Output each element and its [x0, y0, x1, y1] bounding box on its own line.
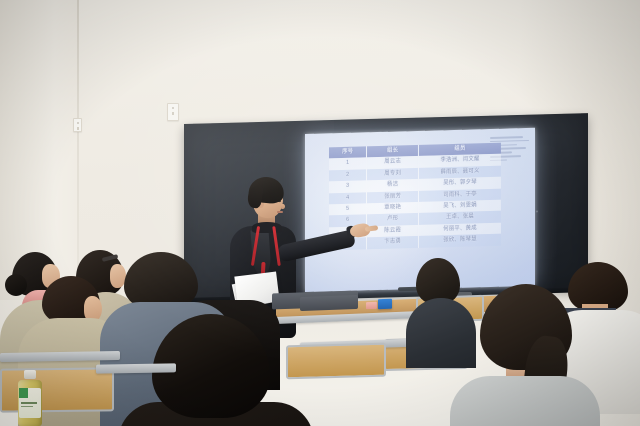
presenter-nose	[281, 204, 285, 209]
torso	[406, 298, 476, 368]
pink-item-on-desk	[366, 302, 377, 309]
presenter-pointing-finger	[365, 225, 379, 232]
bottle-label-text-line	[21, 406, 33, 407]
wall-switch-panel-icon[interactable]	[167, 103, 179, 121]
bottle-label-text-line	[21, 402, 37, 404]
bottle-cap	[24, 370, 36, 379]
chair-backrest	[286, 343, 386, 380]
switch-dot	[77, 122, 79, 124]
presenter-mouth	[277, 211, 283, 213]
blue-box-on-desk	[378, 299, 392, 309]
hair-bun	[5, 274, 27, 296]
wall-switch-icon[interactable]	[73, 118, 82, 132]
classroom-photo: 序号 组长 组员 1 周云志 李浩洲、闫文耀 2 周专刘 薛雨辰、聂可义 3	[0, 0, 640, 426]
drink-bottle	[18, 370, 42, 426]
desk-rail	[96, 363, 176, 373]
blackboard-speck	[536, 210, 538, 212]
switch-dot	[172, 107, 174, 109]
cell-members: 张欣、陈琴慧	[418, 234, 501, 248]
bench-backrest	[300, 295, 358, 311]
bottle-label-green-block	[19, 388, 28, 398]
torso	[450, 376, 600, 426]
wall-corner-edge	[77, 0, 79, 270]
switch-dot-secondary	[77, 127, 79, 130]
switch-dot-secondary	[172, 112, 174, 115]
